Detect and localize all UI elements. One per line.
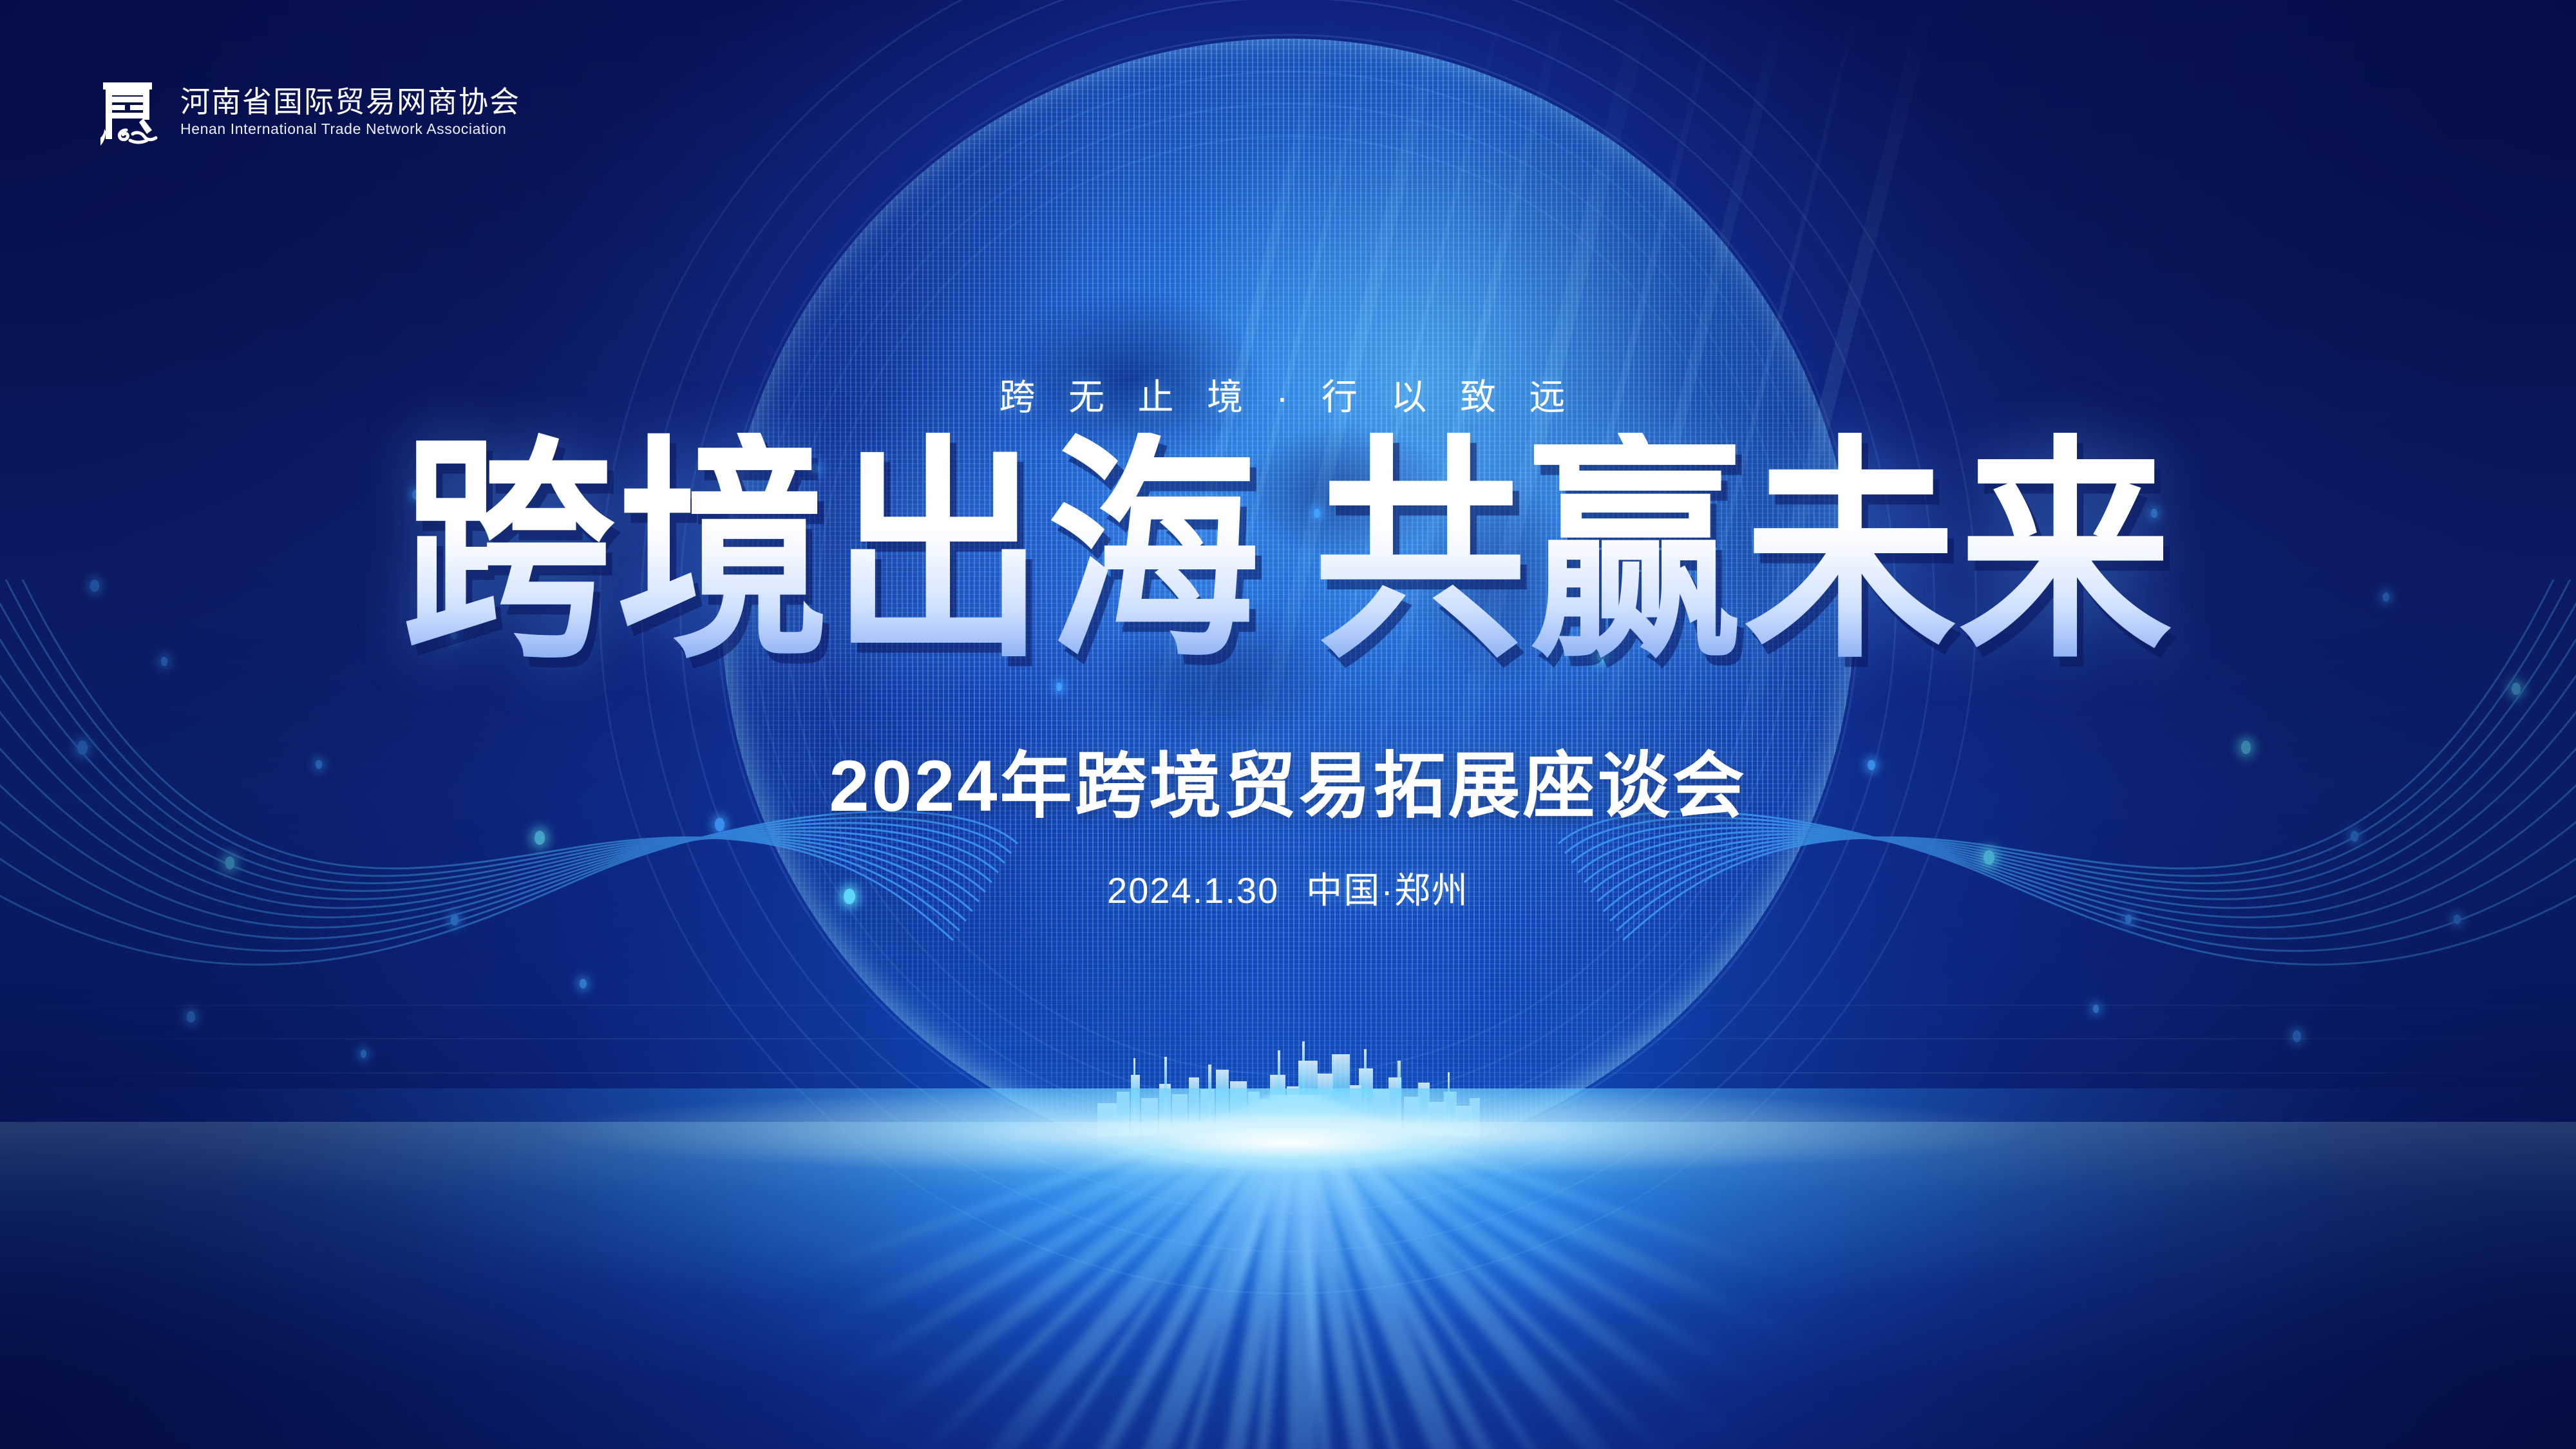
skyline-base-glow	[998, 1104, 1578, 1182]
hero-subtitle: 2024年跨境贸易拓展座谈会	[0, 750, 2576, 822]
henan-trade-association-emblem-icon	[97, 76, 158, 147]
hero-headline: 跨境出海共赢未来	[0, 433, 2576, 671]
headline-part-left: 跨境出海	[402, 419, 1262, 685]
event-location: 中国·郑州	[1306, 870, 1469, 911]
association-logo[interactable]: 河南省国际贸易网商协会 Henan International Trade Ne…	[97, 76, 520, 147]
logo-org-name-cn: 河南省国际贸易网商协会	[180, 87, 520, 117]
hero-tagline: 跨 无 止 境 · 行 以 致 远	[0, 368, 2576, 421]
hero-date-location: 2024.1.30中国·郑州	[0, 873, 2576, 909]
event-date: 2024.1.30	[1107, 870, 1279, 911]
event-poster: 河南省国际贸易网商协会 Henan International Trade Ne…	[0, 0, 2576, 1449]
logo-org-name-en: Henan International Trade Network Associ…	[180, 122, 520, 137]
headline-part-right: 共赢未来	[1314, 419, 2174, 685]
